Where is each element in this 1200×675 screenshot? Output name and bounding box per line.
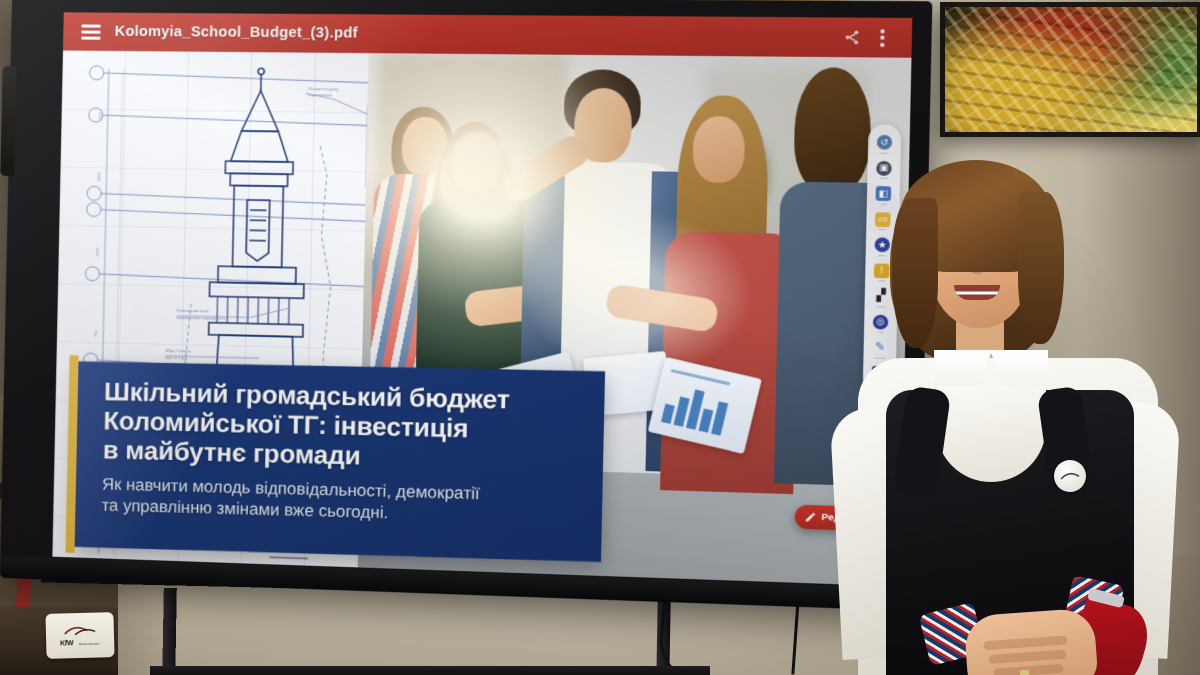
presenter-ring	[1020, 670, 1029, 675]
svg-text:шв. 0.7 мм: шв. 0.7 мм	[165, 355, 187, 361]
swoosh-mark	[63, 624, 97, 638]
kfw-logo-sticker: KfW Bankengruppe	[45, 612, 114, 659]
pdf-slide: Покриття даху оцинковане Купольний пояс …	[52, 50, 911, 586]
display-stand-foot	[150, 666, 710, 675]
svg-text:оцинковане: оцинковане	[308, 92, 333, 97]
header-actions	[843, 28, 901, 46]
svg-text:Покриття даху: Покриття даху	[308, 86, 339, 91]
presenter-hair-right	[1018, 192, 1064, 344]
badge-swoosh-icon	[1060, 470, 1080, 482]
display-stand-leg-left	[162, 588, 177, 675]
svg-text:750: 750	[93, 330, 98, 338]
scene-root: Kolomyia_School_Budget_(3).pdf	[0, 0, 1200, 675]
woman-presenter	[838, 140, 1200, 675]
presenter-hands	[964, 608, 1099, 675]
svg-text:Мідь / бляха: Мідь / бляха	[166, 348, 192, 354]
svg-text:3200: 3200	[95, 247, 100, 257]
name-badge-pin	[1054, 460, 1086, 492]
student-girl-b-head	[692, 116, 745, 183]
kfw-text-row: KfW Bankengruppe	[60, 639, 100, 647]
slide-title-panel: Шкільний громадський бюджет Коломийської…	[75, 361, 605, 562]
interactive-display[interactable]: Kolomyia_School_Budget_(3).pdf	[0, 0, 932, 609]
svg-text:1450: 1450	[98, 111, 103, 121]
pencil-icon	[804, 511, 816, 523]
student-girl-a-head	[451, 132, 500, 194]
kfw-secondary-text: Bankengruppe	[79, 642, 99, 646]
presenter-hair-left	[892, 198, 938, 348]
document-title: Kolomyia_School_Budget_(3).pdf	[114, 24, 357, 42]
svg-text:2800: 2800	[96, 172, 101, 182]
abstract-painting-right	[940, 2, 1200, 137]
share-icon[interactable]	[843, 29, 861, 46]
slide-subtitle: Як навчити молодь відповідальності, демо…	[101, 475, 577, 529]
slide-title: Шкільний громадський бюджет Коломийської…	[103, 378, 580, 477]
svg-text:Купольний пояс: Купольний пояс	[177, 308, 211, 314]
svg-text:армованого перекриття: армованого перекриття	[176, 315, 226, 321]
display-speaker	[0, 66, 16, 176]
kfw-primary-text: KfW	[60, 640, 73, 647]
more-vert-icon[interactable]	[880, 29, 886, 47]
presenter-finger-1	[983, 635, 1067, 650]
presenter-finger-2	[988, 650, 1066, 664]
hamburger-icon[interactable]	[81, 24, 100, 39]
display-screen[interactable]: Kolomyia_School_Budget_(3).pdf	[52, 12, 912, 586]
